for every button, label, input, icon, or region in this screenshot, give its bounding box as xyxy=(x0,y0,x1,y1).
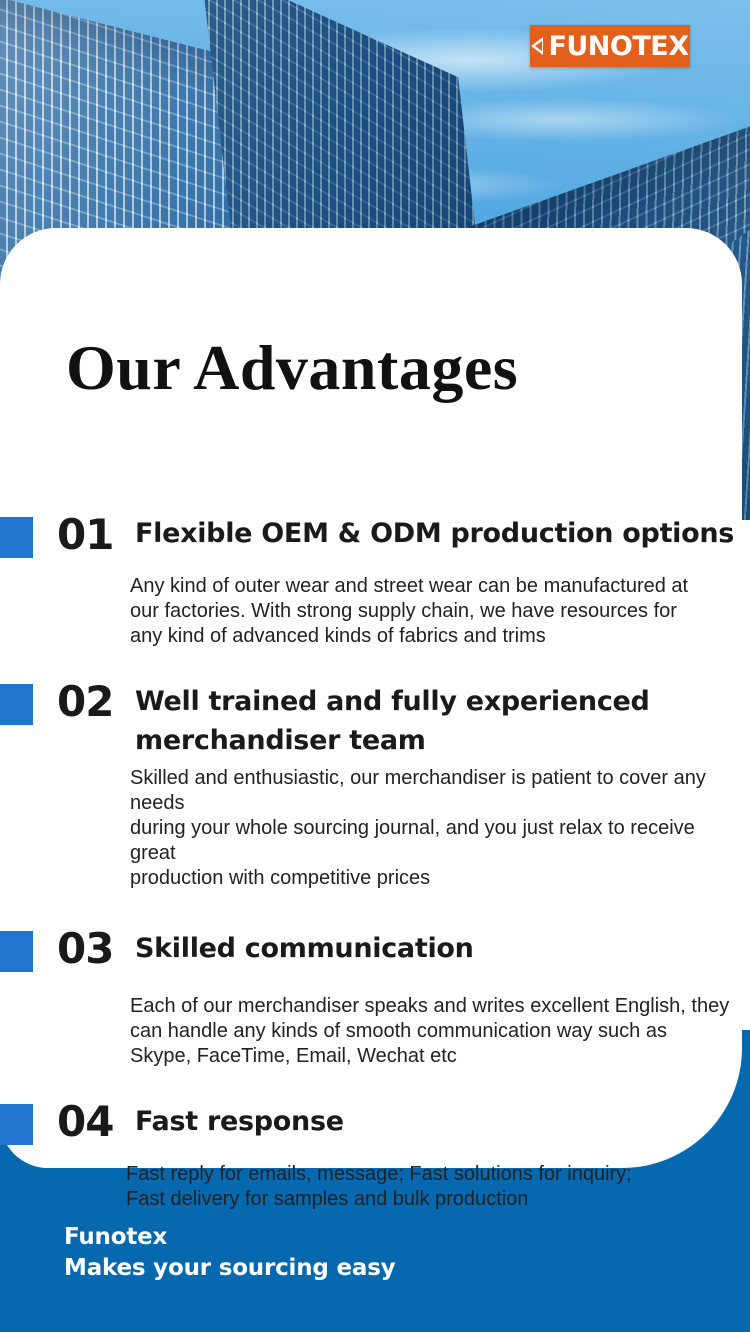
advantage-body-03: Each of our merchandiser speaks and writ… xyxy=(130,994,732,1069)
advantage-heading-02: Well trained and fully experienced merch… xyxy=(135,679,750,760)
advantage-item-04: 04 Fast response Fast reply for emails, … xyxy=(0,1099,750,1212)
advantage-body-01: Any kind of outer wear and street wear c… xyxy=(130,574,732,649)
footer-slogan: Makes your sourcing easy xyxy=(64,1253,395,1284)
logo-wordmark: FUNOTEX xyxy=(548,33,688,60)
advantage-item-01: 01 Flexible OEM & ODM production options… xyxy=(0,512,750,649)
blue-marker-icon xyxy=(0,931,33,972)
advantage-header-01: 01 Flexible OEM & ODM production options xyxy=(0,512,750,558)
advantage-body-04: Fast reply for emails, message; Fast sol… xyxy=(126,1162,732,1212)
blue-marker-icon xyxy=(0,684,33,725)
advantage-header-03: 03 Skilled communication xyxy=(0,926,750,972)
advantage-item-02: 02 Well trained and fully experienced me… xyxy=(0,679,750,891)
advantage-number-03: 03 xyxy=(57,926,135,972)
advantages-poster: FUNOTEX Our Advantages 01 Flexible OEM &… xyxy=(0,0,750,1332)
advantage-number-04: 04 xyxy=(57,1099,135,1145)
advantage-item-03: 03 Skilled communication Each of our mer… xyxy=(0,926,750,1069)
advantage-header-04: 04 Fast response xyxy=(0,1099,750,1145)
blue-marker-icon xyxy=(0,517,33,558)
advantage-number-02: 02 xyxy=(57,679,135,725)
page-title: Our Advantages xyxy=(66,336,518,400)
advantage-body-02: Skilled and enthusiastic, our merchandis… xyxy=(130,766,732,891)
blue-marker-icon xyxy=(0,1104,33,1145)
footer-tagline: Funotex Makes your sourcing easy xyxy=(64,1222,395,1284)
advantage-heading-03: Skilled communication xyxy=(135,926,750,968)
advantage-header-02: 02 Well trained and fully experienced me… xyxy=(0,679,750,760)
advantage-number-01: 01 xyxy=(57,512,135,558)
advantages-list: 01 Flexible OEM & ODM production options… xyxy=(0,512,750,1212)
advantage-heading-01: Flexible OEM & ODM production options xyxy=(135,512,750,553)
funotex-logo[interactable]: FUNOTEX xyxy=(530,25,690,67)
footer-brand-name: Funotex xyxy=(64,1222,395,1253)
left-triangle-icon xyxy=(531,37,543,55)
advantage-heading-04: Fast response xyxy=(135,1099,750,1141)
